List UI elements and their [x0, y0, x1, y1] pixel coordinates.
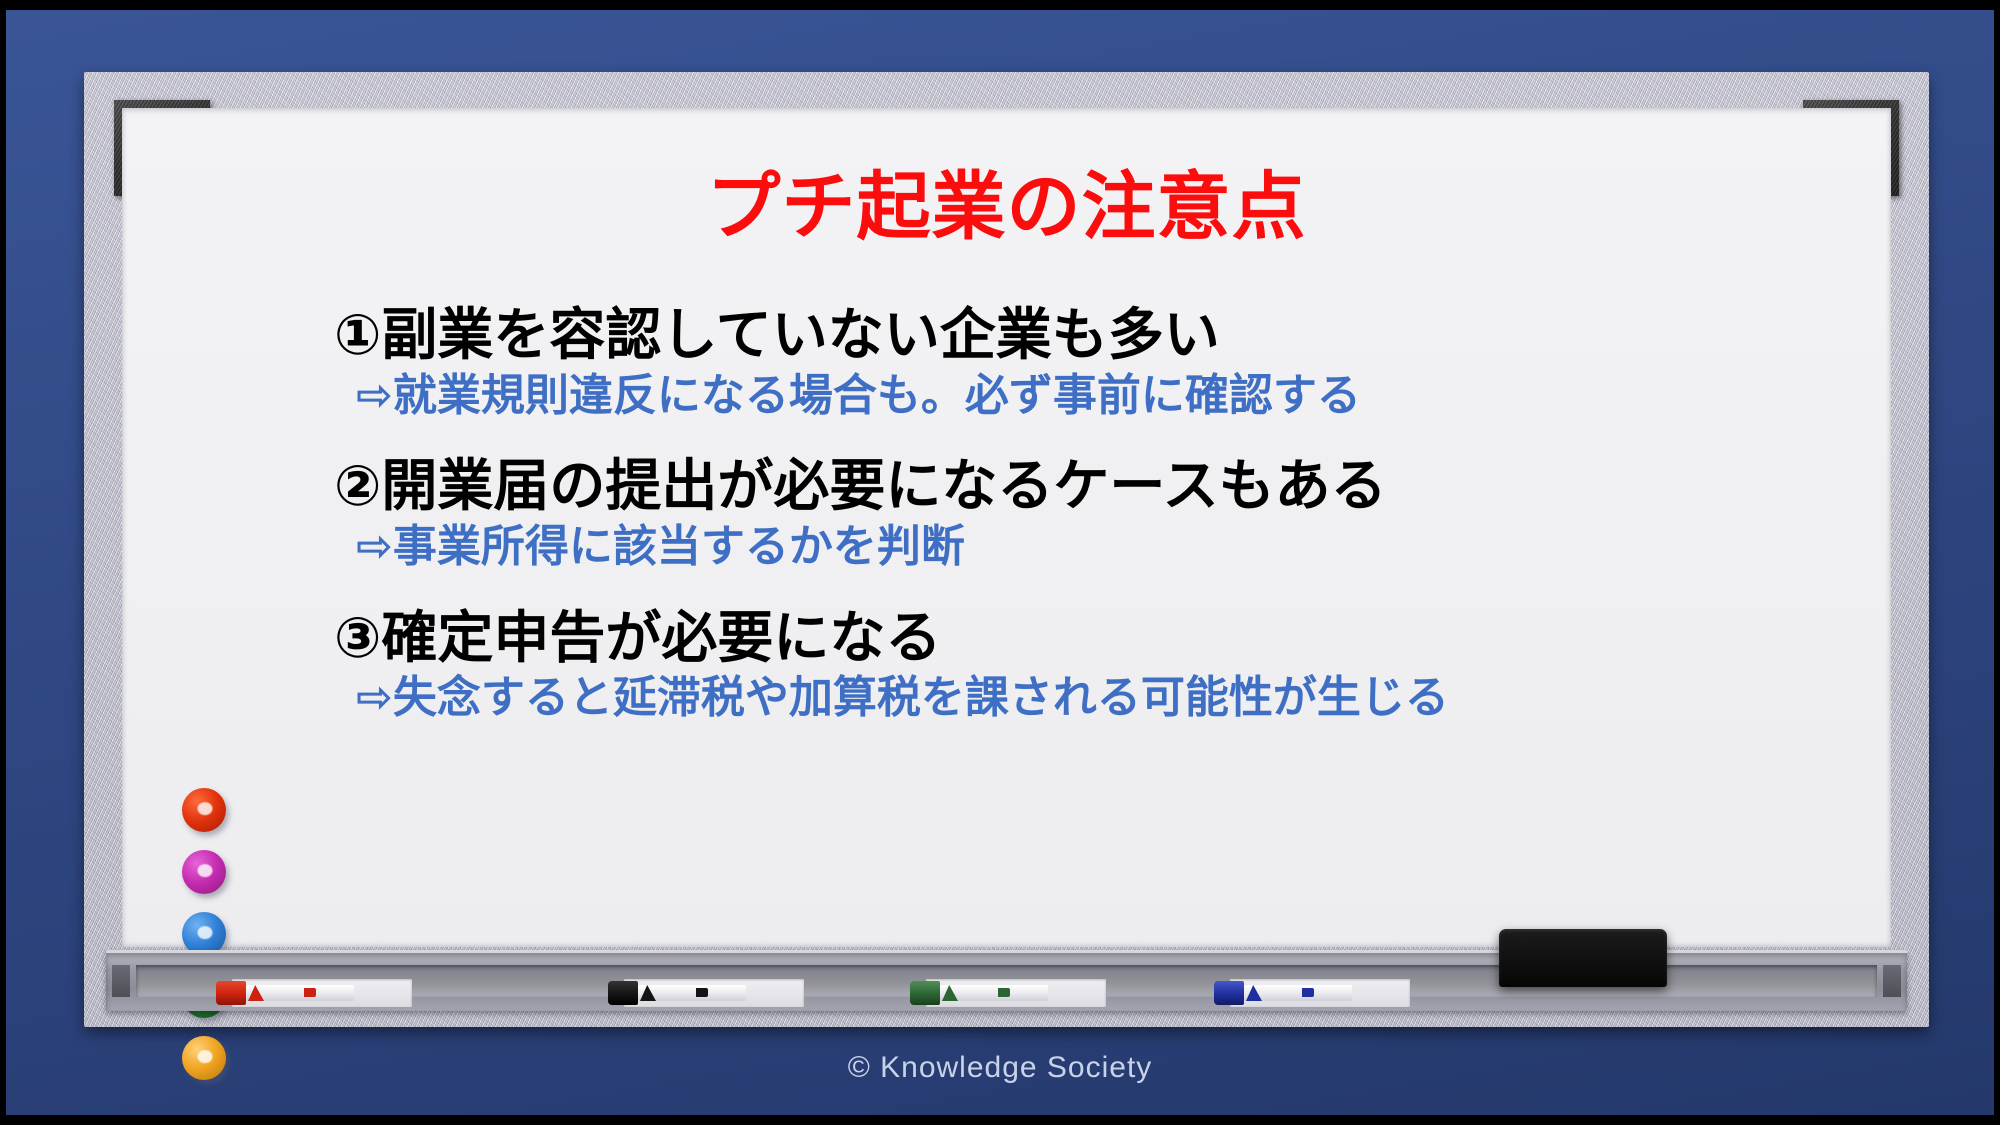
point-sub-text: ⇨事業所得に該当するかを判断	[356, 522, 1841, 573]
whiteboard-surface: プチ起業の注意点 ①副業を容認していない企業も多い ⇨就業規則違反になる場合も。…	[122, 108, 1891, 947]
list-item: ③確定申告が必要になる ⇨失念すると延滞税や加算税を課される可能性が生じる	[334, 607, 1841, 724]
point-sub-text: ⇨失念すると延滞税や加算税を課される可能性が生じる	[356, 673, 1841, 724]
magnet-magenta-icon[interactable]	[182, 850, 226, 894]
footer-credit: © Knowledge Society	[6, 1051, 1994, 1085]
point-main-text: ③確定申告が必要になる	[334, 607, 1841, 670]
point-sub-text: ⇨就業規則違反になる場合も。必ず事前に確認する	[356, 371, 1841, 422]
list-item: ②開業届の提出が必要になるケースもある ⇨事業所得に該当するかを判断	[334, 455, 1841, 572]
page-title: プチ起業の注意点	[122, 170, 1891, 244]
magnet-red-icon[interactable]	[182, 788, 226, 832]
list-item: ①副業を容認していない企業も多い ⇨就業規則違反になる場合も。必ず事前に確認する	[334, 304, 1841, 421]
tray-end-cap	[112, 965, 130, 997]
slide-content: プチ起業の注意点 ①副業を容認していない企業も多い ⇨就業規則違反になる場合も。…	[122, 108, 1891, 947]
tray-end-cap	[1883, 965, 1901, 997]
point-main-text: ②開業届の提出が必要になるケースもある	[334, 455, 1841, 518]
points-list: ①副業を容認していない企業も多い ⇨就業規則違反になる場合も。必ず事前に確認する…	[334, 304, 1841, 724]
whiteboard: プチ起業の注意点 ①副業を容認していない企業も多い ⇨就業規則違反になる場合も。…	[84, 72, 1929, 1027]
whiteboard-eraser-icon[interactable]	[1499, 929, 1667, 987]
point-main-text: ①副業を容認していない企業も多い	[334, 304, 1841, 367]
slide: プチ起業の注意点 ①副業を容認していない企業も多い ⇨就業規則違反になる場合も。…	[0, 0, 2000, 1125]
